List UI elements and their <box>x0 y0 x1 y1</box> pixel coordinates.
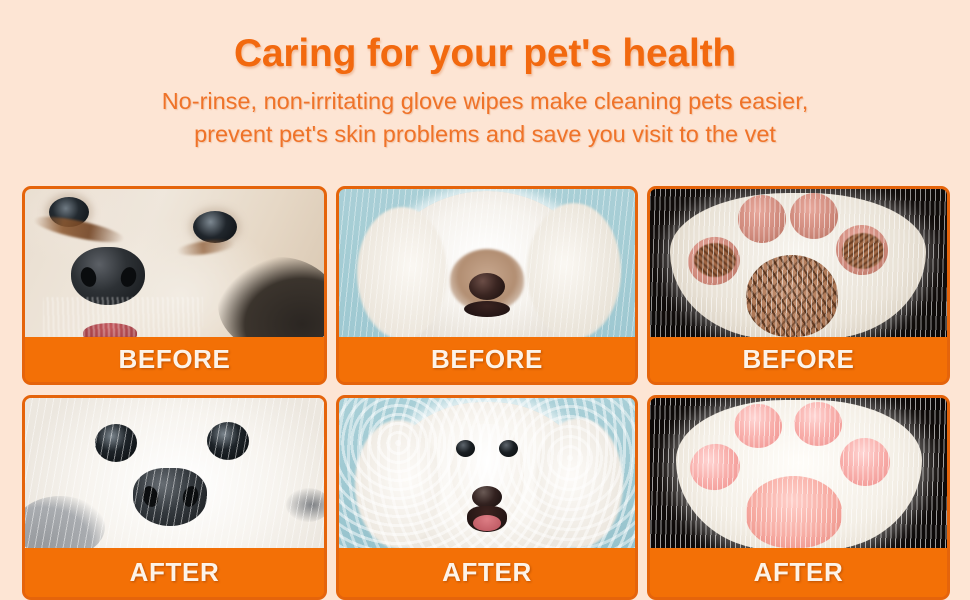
subtitle-line-2: prevent pet's skin problems and save you… <box>0 116 970 149</box>
after-label-band-poodle: AFTER <box>339 548 635 597</box>
before-photo-poodle <box>339 189 635 337</box>
after-photo-maltese <box>25 398 324 548</box>
before-after-comparison-grid: BEFORE BEFORE <box>0 186 970 600</box>
before-photo-paw <box>650 189 947 337</box>
header-section: Caring for your pet's health No-rinse, n… <box>0 0 970 186</box>
after-card-maltese: AFTER <box>22 395 327 600</box>
after-card-paw: AFTER <box>647 395 950 600</box>
after-label-text: AFTER <box>442 557 532 588</box>
before-label-text: BEFORE <box>431 344 543 375</box>
pet-care-promo-banner: Caring for your pet's health No-rinse, n… <box>0 0 970 600</box>
before-row: BEFORE BEFORE <box>0 186 970 385</box>
before-label-band-maltese: BEFORE <box>25 337 324 382</box>
before-label-text: BEFORE <box>743 344 855 375</box>
after-photo-paw <box>650 398 947 548</box>
after-row: AFTER <box>0 395 970 600</box>
after-label-band-maltese: AFTER <box>25 548 324 597</box>
after-photo-poodle <box>339 398 635 548</box>
before-card-maltese: BEFORE <box>22 186 327 385</box>
after-card-poodle: AFTER <box>336 395 638 600</box>
before-label-text: BEFORE <box>119 344 231 375</box>
before-card-paw: BEFORE <box>647 186 950 385</box>
before-card-poodle: BEFORE <box>336 186 638 385</box>
before-photo-maltese <box>25 189 324 337</box>
before-label-band-paw: BEFORE <box>650 337 947 382</box>
after-label-band-paw: AFTER <box>650 548 947 597</box>
page-title: Caring for your pet's health <box>0 0 970 78</box>
after-label-text: AFTER <box>130 557 220 588</box>
subtitle-line-1: No-rinse, non-irritating glove wipes mak… <box>0 78 970 116</box>
after-label-text: AFTER <box>754 557 844 588</box>
before-label-band-poodle: BEFORE <box>339 337 635 382</box>
